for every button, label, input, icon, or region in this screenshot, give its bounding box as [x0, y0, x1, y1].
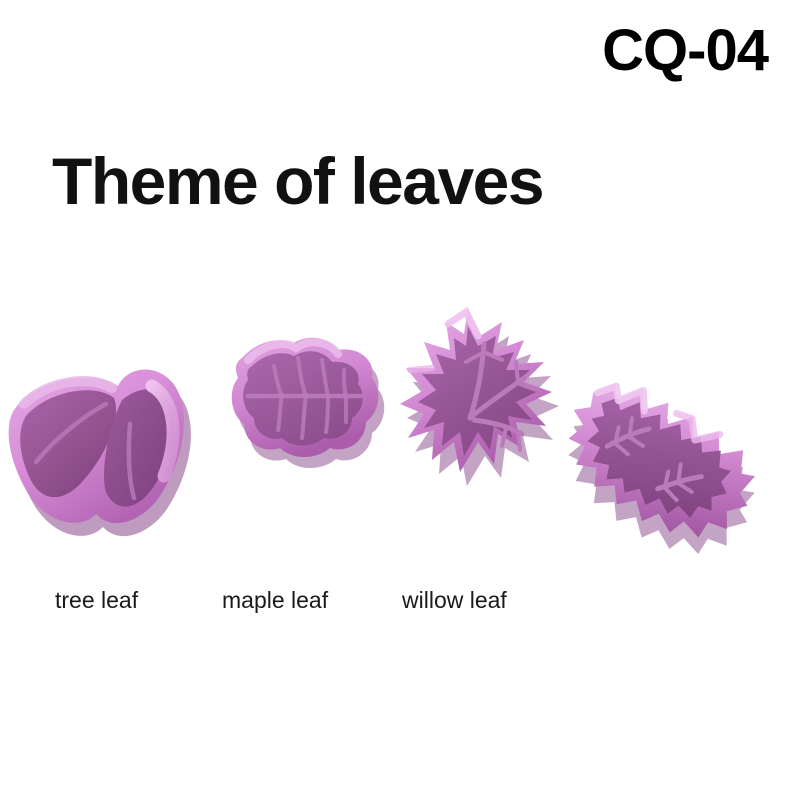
product-maple-leaf[interactable] [222, 330, 392, 475]
caption-tree-leaf: tree leaf [55, 589, 138, 612]
tree-leaf-cutter-icon [2, 352, 202, 532]
page-title: Theme of leaves [52, 148, 543, 214]
caption-willow-leaf: willow leaf [402, 589, 507, 612]
product-stage [0, 0, 800, 800]
sku-code: CQ-04 [602, 22, 768, 80]
product-tree-leaf[interactable] [2, 352, 202, 532]
product-double-leaf[interactable] [542, 370, 772, 560]
caption-maple-leaf: maple leaf [222, 589, 328, 612]
maple-leaf-cutter-icon [222, 330, 392, 475]
double-leaf-cutter-icon [542, 370, 772, 560]
product-image-canvas: CQ-04 Theme of leaves [0, 0, 800, 800]
